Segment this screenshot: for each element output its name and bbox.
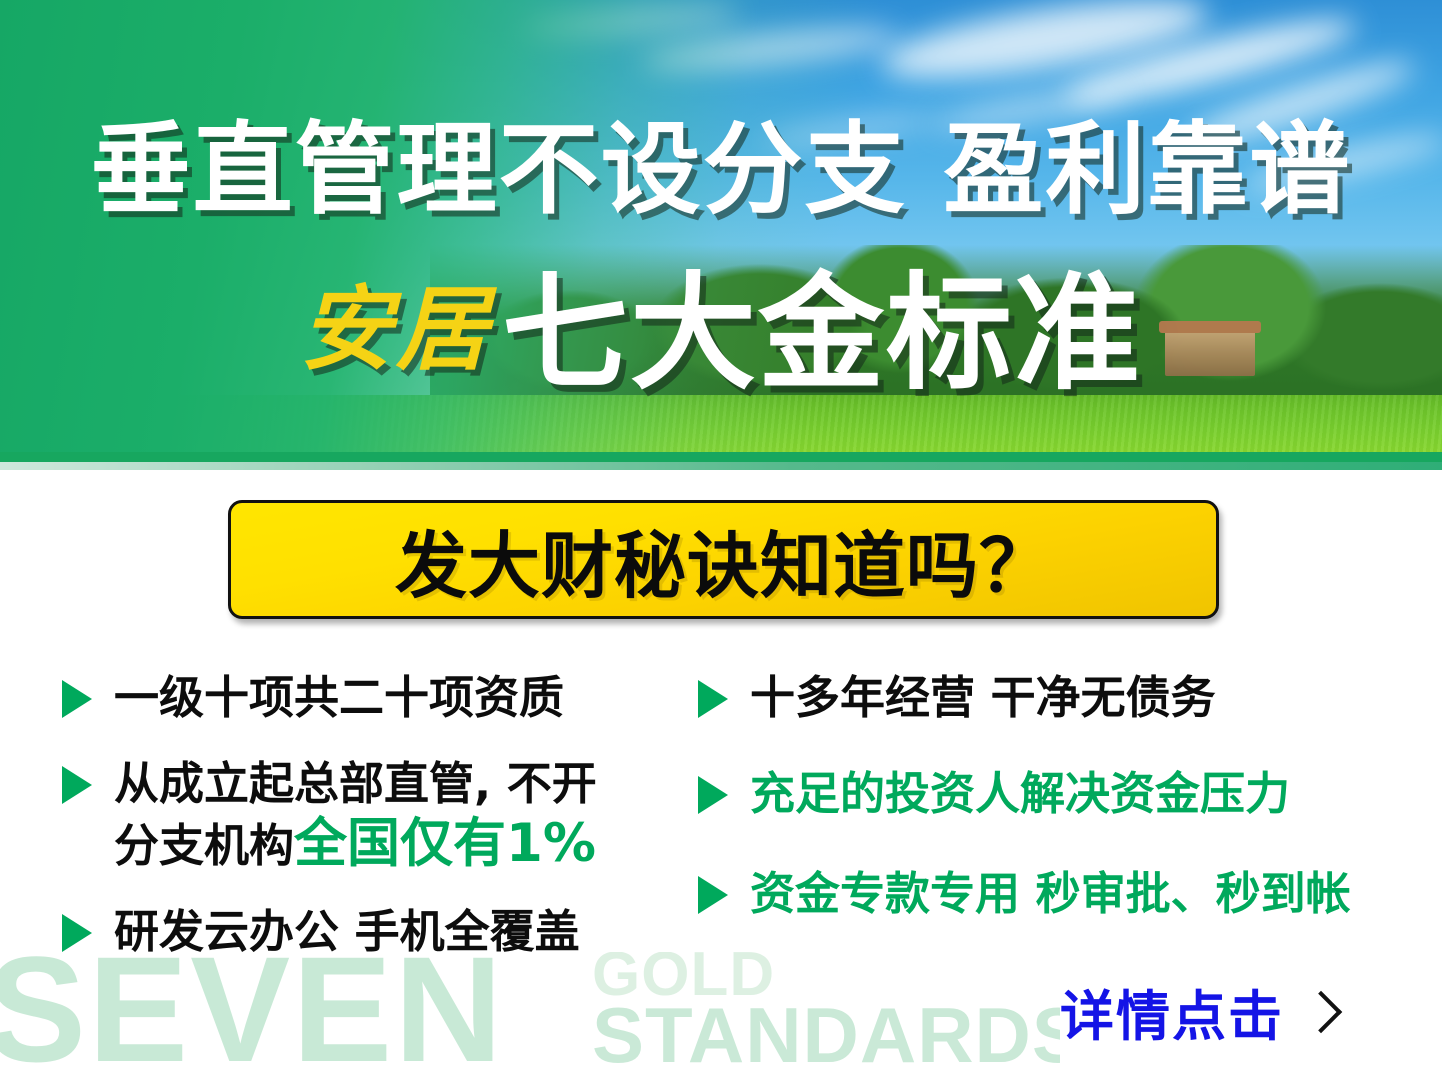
feature-body: 从成立起总部直管, 不开 分支机构全国仅有1% — [114, 754, 702, 876]
feature-item: 资金专款专用 秒审批、秒到帐 — [698, 864, 1398, 924]
promo-banner-button[interactable]: 发大财秘诀知道吗？ — [228, 500, 1219, 619]
feature-body: 十多年经营 干净无债务 — [750, 668, 1398, 728]
watermark-standards-text: STANDARDS — [592, 996, 1060, 1066]
feature-body: 研发云办公 手机全覆盖 — [114, 902, 702, 962]
feature-text: 充足的投资人解决资金压力 — [750, 764, 1398, 824]
feature-body: 充足的投资人解决资金压力 — [750, 764, 1398, 824]
chevron-right-icon — [1300, 990, 1342, 1032]
triangle-bullet-icon — [62, 766, 92, 804]
feature-text: 研发云办公 手机全覆盖 — [114, 902, 702, 962]
feature-body: 一级十项共二十项资质 — [114, 668, 702, 728]
triangle-bullet-icon — [62, 914, 92, 952]
feature-text: 十多年经营 干净无债务 — [750, 668, 1398, 728]
triangle-bullet-icon — [698, 680, 728, 718]
feature-text: 从成立起总部直管, 不开 — [114, 754, 702, 814]
hero-headline: 垂直管理不设分支 盈利靠谱 — [0, 118, 1442, 222]
feature-text-highlight: 全国仅有1% — [294, 813, 596, 874]
feature-item: 充足的投资人解决资金压力 — [698, 764, 1398, 824]
promo-banner-label: 发大财秘诀知道吗？ — [395, 507, 1052, 612]
feature-item: 研发云办公 手机全覆盖 — [62, 902, 702, 962]
triangle-bullet-icon — [62, 680, 92, 718]
features-left-column: 一级十项共二十项资质 从成立起总部直管, 不开 分支机构全国仅有1% 研发云办公… — [62, 660, 702, 988]
brand-script-text: 安居 — [300, 268, 492, 392]
feature-item: 一级十项共二十项资质 — [62, 668, 702, 728]
hero-subheadline-row: 安居七大金标准 — [0, 272, 1442, 396]
features-section: 一级十项共二十项资质 从成立起总部直管, 不开 分支机构全国仅有1% 研发云办公… — [0, 660, 1442, 990]
triangle-bullet-icon — [698, 776, 728, 814]
feature-text-second-line: 分支机构全国仅有1% — [114, 814, 702, 876]
feature-text-prefix: 分支机构 — [114, 819, 294, 872]
details-cta-label: 详情点击 — [1060, 972, 1284, 1051]
details-cta-link[interactable]: 详情点击 — [1060, 972, 1336, 1051]
feature-text: 一级十项共二十项资质 — [114, 668, 702, 728]
feature-body: 资金专款专用 秒审批、秒到帐 — [750, 864, 1398, 924]
hero-bottom-band-fade — [0, 462, 1442, 470]
features-right-column: 十多年经营 干净无债务 充足的投资人解决资金压力 资金专款专用 秒审批、秒到帐 — [698, 660, 1398, 950]
hero-banner: 垂直管理不设分支 盈利靠谱 安居七大金标准 — [0, 0, 1442, 470]
feature-item: 从成立起总部直管, 不开 分支机构全国仅有1% — [62, 754, 702, 876]
feature-item: 十多年经营 干净无债务 — [698, 668, 1398, 728]
feature-text: 资金专款专用 秒审批、秒到帐 — [750, 864, 1398, 924]
hero-subheadline: 七大金标准 — [502, 272, 1142, 396]
triangle-bullet-icon — [698, 876, 728, 914]
